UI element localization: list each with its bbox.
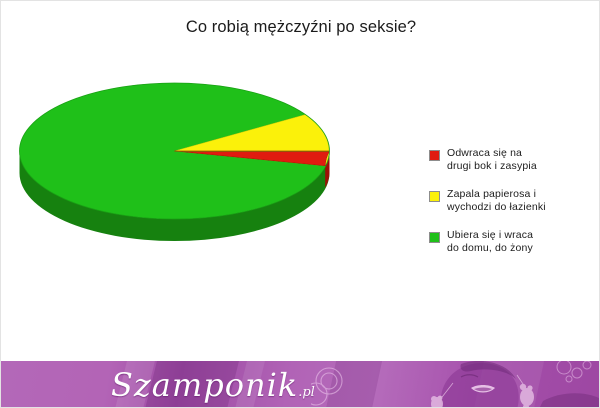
watermark-tld: .pl	[298, 385, 315, 400]
legend-label-yellow-line2: wychodzi do łazienki	[447, 201, 546, 214]
legend-label-red-line1: Odwraca się na	[447, 147, 537, 160]
pie-top-face	[19, 83, 329, 219]
watermark-brand: Szamponik	[111, 366, 298, 404]
pie-chart-svg	[13, 73, 343, 253]
legend-label-red-line2: drugi bok i zasypia	[447, 160, 537, 173]
legend-item-yellow[interactable]: Zapala papierosa i wychodzi do łazienki	[429, 188, 597, 213]
legend-label-green-line2: do domu, do żony	[447, 242, 533, 255]
watermark-logo: Szamponik.pl	[111, 366, 315, 404]
face-silhouette	[441, 361, 519, 408]
legend-swatch-red	[429, 150, 440, 161]
legend-swatch-yellow	[429, 191, 440, 202]
legend-label-green: Ubiera się i wraca do domu, do żony	[447, 229, 533, 254]
bubble-cluster-right	[557, 361, 591, 382]
legend-item-red[interactable]: Odwraca się na drugi bok i zasypia	[429, 147, 597, 172]
pie-chart	[13, 73, 343, 253]
watermark-bar: Szamponik.pl	[1, 361, 600, 408]
legend-label-yellow: Zapala papierosa i wychodzi do łazienki	[447, 188, 546, 213]
legend-swatch-green	[429, 232, 440, 243]
woman-illustration	[311, 361, 600, 408]
chart-legend: Odwraca się na drugi bok i zasypia Zapal…	[429, 147, 597, 270]
image-frame: Co robią mężczyźni po seksie?	[0, 0, 600, 408]
page-title: Co robią mężczyźni po seksie?	[1, 18, 600, 37]
earring-right	[517, 375, 534, 408]
legend-label-red: Odwraca się na drugi bok i zasypia	[447, 147, 537, 172]
legend-item-green[interactable]: Ubiera się i wraca do domu, do żony	[429, 229, 597, 254]
legend-label-green-line1: Ubiera się i wraca	[447, 229, 533, 242]
bubble-cluster-left	[311, 368, 342, 405]
legend-label-yellow-line1: Zapala papierosa i	[447, 188, 546, 201]
shoulder-shape	[539, 393, 600, 408]
